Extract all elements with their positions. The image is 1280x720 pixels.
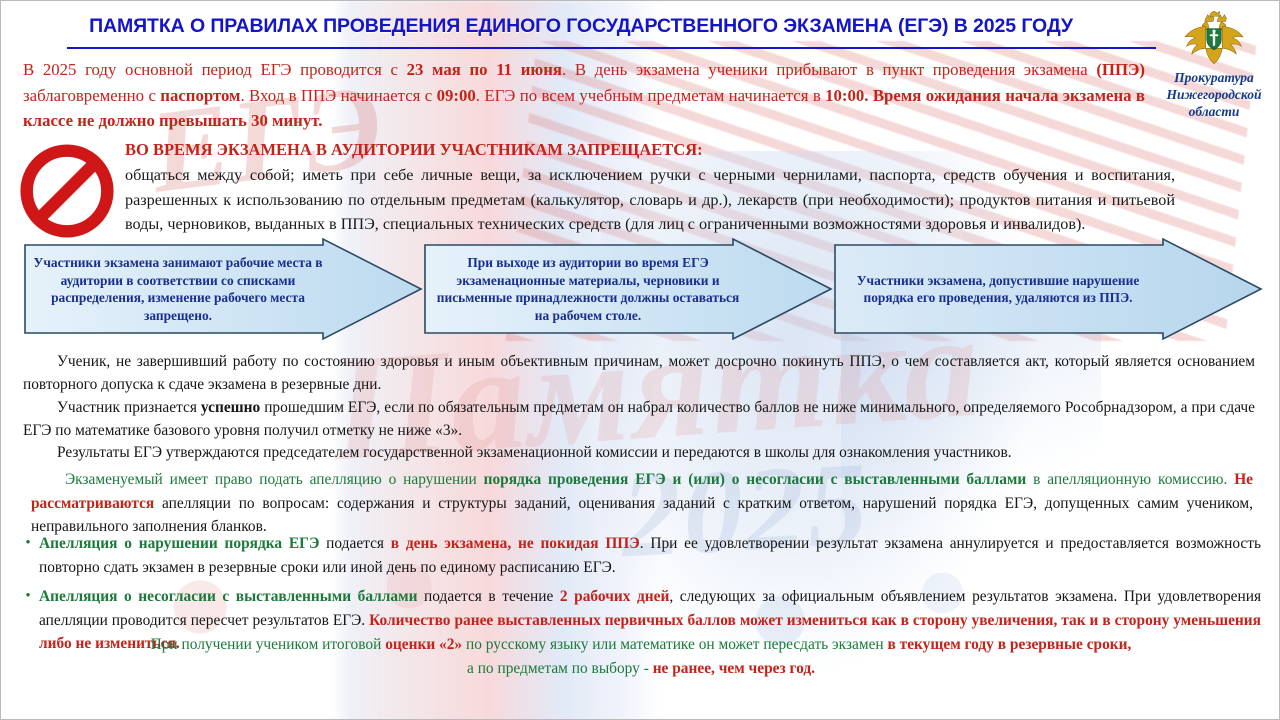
- prosecutor-emblem-block: Прокуратура Нижегородской области: [1155, 9, 1273, 120]
- appeal-part-1: Экзаменуемый имеет право подать апелляци…: [65, 471, 484, 488]
- bullet-1-text: Апелляция о нарушении порядка ЕГЭ подает…: [39, 532, 1261, 579]
- paragraph-results-text: Результаты ЕГЭ утверждаются председателе…: [57, 444, 1012, 461]
- intro-bold-entry-time: 09:00: [437, 86, 476, 105]
- bullet-marker: •: [17, 532, 39, 579]
- appeal-part-3: апелляции по вопросам: содержания и стру…: [31, 495, 1253, 536]
- intro-part-4: . Вход в ППЭ начинается с: [240, 86, 436, 105]
- closing-red-retake: в текущем году в резервные сроки,: [887, 636, 1131, 653]
- prohibition-heading: ВО ВРЕМЯ ЭКЗАМЕНА В АУДИТОРИИ УЧАСТНИКАМ…: [125, 140, 1145, 160]
- arrow-step-3-text: Участники экзамена, допустившие нарушени…: [838, 272, 1158, 307]
- bullet-1-part-1: Апелляция о нарушении порядка ЕГЭ: [39, 535, 319, 552]
- intro-part-1: В 2025 году основной период ЕГЭ проводит…: [23, 60, 407, 79]
- arrow-step-3: Участники экзамена, допустившие нарушени…: [833, 237, 1263, 341]
- no-entry-prohibition-icon: [19, 143, 115, 239]
- paragraph-pass-criteria-a: Участник признается: [57, 399, 201, 416]
- arrow-step-1-text: Участники экзамена занимают рабочие мест…: [23, 254, 333, 324]
- paragraph-pass-criteria-bold: успешно: [201, 399, 260, 416]
- russian-double-headed-eagle-icon: [1183, 11, 1245, 67]
- closing-part-1: При получении учеником итоговой: [151, 636, 386, 653]
- arrow-flow-row: Участники экзамена занимают рабочие мест…: [23, 237, 1263, 341]
- arrow-step-2: При выходе из аудитории во время ЕГЭ экз…: [423, 237, 833, 341]
- paragraph-results: Результаты ЕГЭ утверждаются председателе…: [23, 442, 1255, 465]
- paragraph-early-leave: Ученик, не завершивший работу по состоян…: [23, 351, 1255, 396]
- bullet-1-part-3: в день экзамена, не покидая ППЭ: [391, 535, 640, 552]
- arrow-step-1: Участники экзамена занимают рабочие мест…: [23, 237, 423, 341]
- intro-part-3: заблаговременно с: [23, 86, 160, 105]
- appeal-bold-green: порядка проведения ЕГЭ и (или) о несогла…: [484, 471, 1027, 488]
- prohibition-body: общаться между собой; иметь при себе лич…: [125, 163, 1175, 237]
- bullet-1-part-2: подается: [319, 535, 390, 552]
- closing-part-2: по русскому языку или математике он може…: [462, 636, 887, 653]
- organization-line-3: области: [1155, 103, 1273, 120]
- intro-part-2: . В день экзамена ученики прибывают в пу…: [562, 60, 1096, 79]
- intro-bold-ppe: (ППЭ): [1096, 60, 1145, 79]
- organization-line-2: Нижегородской: [1155, 86, 1273, 103]
- appeal-part-2: в апелляционную комиссию.: [1026, 471, 1234, 488]
- intro-part-5: . ЕГЭ по всем учебным предметам начинает…: [476, 86, 825, 105]
- paragraph-appeal-rules: Экзаменуемый имеет право подать апелляци…: [31, 468, 1253, 539]
- bullet-2-part-1: Апелляция о несогласии с выставленными б…: [39, 588, 417, 605]
- intro-bold-dates: 23 мая по 11 июня: [407, 60, 562, 79]
- poster-root: ЕГЭ Памятка 2025 ПАМЯТКА О ПРАВИЛАХ ПРОВ…: [0, 0, 1280, 720]
- arrow-step-2-text: При выходе из аудитории во время ЕГЭ экз…: [423, 254, 753, 324]
- closing-line-2: а по предметам по выбору - не ранее, чем…: [41, 657, 1241, 681]
- organization-name: Прокуратура Нижегородской области: [1155, 69, 1273, 120]
- title-underline: [67, 47, 1156, 49]
- bullet-2-part-2: подается в течение: [417, 588, 559, 605]
- bullet-marker: •: [17, 585, 39, 656]
- closing-red-grade: оценки «2»: [385, 636, 462, 653]
- closing-paragraph: При получении учеником итоговой оценки «…: [41, 633, 1241, 680]
- closing-red-year: не ранее, чем через год.: [653, 660, 815, 677]
- bullet-2-part-3: 2 рабочих дней: [560, 588, 669, 605]
- list-item: • Апелляция о нарушении порядка ЕГЭ пода…: [17, 532, 1261, 579]
- page-title-bar: ПАМЯТКА О ПРАВИЛАХ ПРОВЕДЕНИЯ ЕДИНОГО ГО…: [1, 15, 1161, 38]
- paragraph-early-leave-text: Ученик, не завершивший работу по состоян…: [23, 353, 1255, 393]
- closing-part-3: а по предметам по выбору -: [467, 660, 653, 677]
- organization-line-1: Прокуратура: [1155, 69, 1273, 86]
- paragraph-pass-criteria: Участник признается успешно прошедшим ЕГ…: [23, 397, 1255, 442]
- intro-bold-passport: паспортом: [160, 86, 240, 105]
- page-title: ПАМЯТКА О ПРАВИЛАХ ПРОВЕДЕНИЯ ЕДИНОГО ГО…: [89, 15, 1073, 38]
- intro-paragraph: В 2025 году основной период ЕГЭ проводит…: [23, 57, 1145, 134]
